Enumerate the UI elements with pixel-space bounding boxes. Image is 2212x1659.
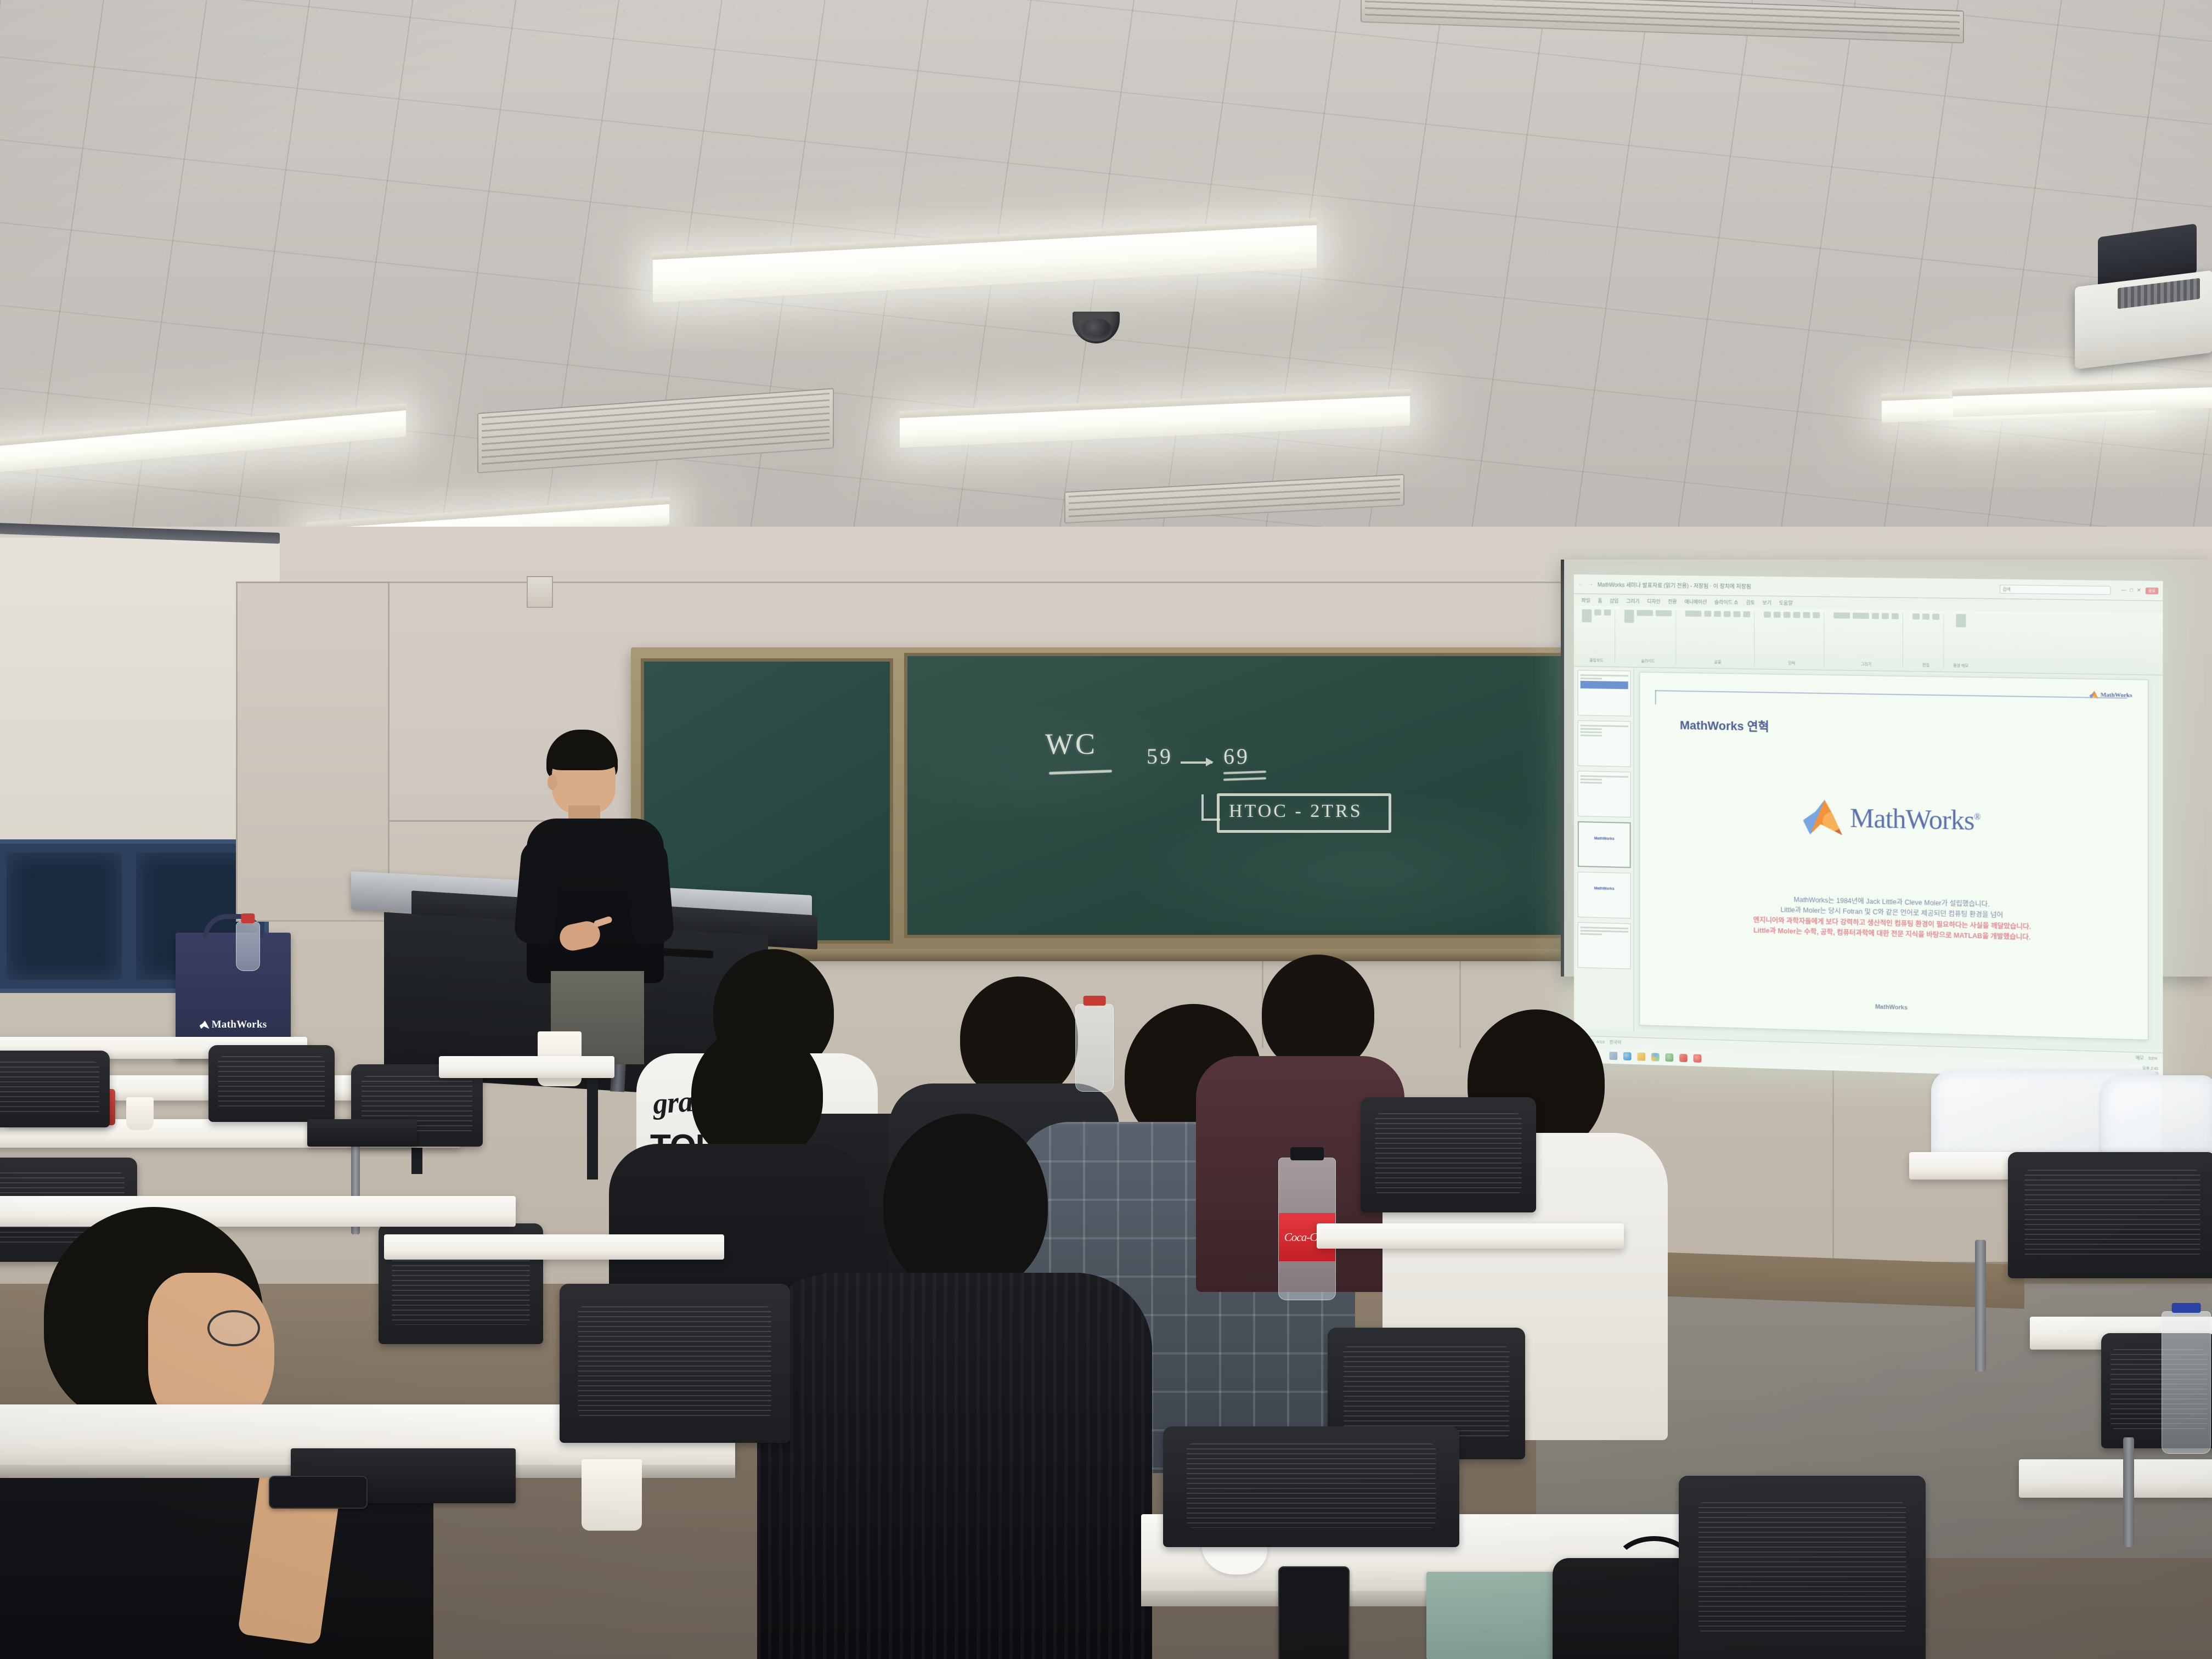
- wall-outlet-box: [527, 576, 553, 608]
- water-bottle-right: [2162, 1311, 2211, 1454]
- ribbon-icons[interactable]: [1764, 612, 1820, 618]
- cut-icon[interactable]: [1594, 610, 1601, 616]
- tote-brand-label: MathWorks: [176, 1019, 291, 1031]
- bullets-icon[interactable]: [1764, 612, 1771, 618]
- dictate-icon[interactable]: [1956, 614, 1966, 627]
- font-family-select[interactable]: [1685, 611, 1702, 617]
- desk-right-3: [2019, 1459, 2212, 1498]
- slide-title: MathWorks 연혁: [1680, 715, 1769, 735]
- shape-outline-icon[interactable]: [1882, 613, 1889, 619]
- nav-forward-icon[interactable]: →: [1588, 581, 1593, 587]
- ribbon-group-slides[interactable]: 슬라이드: [1621, 610, 1676, 664]
- align-right-icon[interactable]: [1803, 612, 1810, 618]
- maximize-icon[interactable]: □: [2130, 588, 2133, 594]
- paper-cup-front: [582, 1459, 642, 1531]
- chair-leg: [2123, 1437, 2134, 1547]
- thumb-line: [1581, 778, 1602, 781]
- desk-mid-left: [384, 1234, 724, 1260]
- thumb-mathworks-logo: MathWorks: [1581, 874, 1628, 891]
- projected-powerpoint[interactable]: ← → MathWorks 세미나 발표자료 (읽기 전용) - 저장됨 · 이…: [1574, 574, 2163, 1081]
- thumb-mathworks-logo: MathWorks: [1581, 825, 1628, 842]
- slide-main-logo: MathWorks®: [1803, 799, 1980, 838]
- tab-view[interactable]: 보기: [1763, 599, 1771, 606]
- ppt-document-title: MathWorks 세미나 발표자료 (읽기 전용) - 저장됨 · 이 장치에…: [1598, 580, 1751, 590]
- slide-decoration-corner: [1655, 690, 1656, 704]
- window-pane-left: [7, 853, 122, 980]
- ribbon-group-label: 글꼴: [1714, 658, 1722, 665]
- underline-icon[interactable]: [1734, 611, 1741, 617]
- tab-slideshow[interactable]: 슬라이드 쇼: [1714, 598, 1738, 605]
- slide-corner-logo: MathWorks: [2089, 691, 2132, 699]
- list-item[interactable]: [1578, 771, 1631, 817]
- tab-insert[interactable]: 삽입: [1610, 597, 1618, 604]
- lecture-hall-photo: WC 59 69 HTOC - 2TRS ← → MathWorks 세미나 발…: [0, 0, 2212, 1659]
- replace-icon[interactable]: [1922, 613, 1929, 619]
- layout-icon[interactable]: [1637, 610, 1652, 616]
- ribbon-group-paragraph[interactable]: 단락: [1760, 612, 1824, 667]
- smartphone-on-desk[interactable]: [1278, 1566, 1350, 1659]
- tab-transitions[interactable]: 전환: [1668, 597, 1677, 605]
- ribbon-group-drawing[interactable]: 그리기: [1830, 612, 1903, 668]
- find-icon[interactable]: [1912, 613, 1920, 619]
- thumb-line: [1581, 735, 1602, 737]
- podium-leg-right: [587, 1075, 598, 1180]
- powerpoint-icon[interactable]: [1679, 1053, 1688, 1062]
- arrange-icon[interactable]: [1853, 613, 1869, 619]
- ribbon-group-font[interactable]: 글꼴: [1681, 611, 1754, 665]
- thumb-line: [1581, 930, 1628, 933]
- thumb-line: [1581, 927, 1628, 929]
- ribbon-group-label: 클립보드: [1589, 656, 1603, 663]
- ceiling-projector: [2075, 230, 2212, 362]
- chair-leg: [1975, 1240, 1986, 1372]
- desk-podium-side: [439, 1056, 614, 1078]
- board-arrow: [1181, 761, 1212, 764]
- bottle-cap: [2172, 1303, 2201, 1313]
- ribbon-group-label: 그리기: [1861, 660, 1871, 667]
- presenter-hair-front: [548, 740, 618, 770]
- laptop-closed-left: [307, 1119, 417, 1147]
- shapes-gallery-icon[interactable]: [1833, 612, 1850, 618]
- notes-button[interactable]: 메모: [2136, 1055, 2144, 1062]
- ppt-search-box[interactable]: 검색: [2000, 584, 2111, 594]
- presenter-right-arm: [624, 838, 675, 945]
- ribbon-group-label: 편집: [1922, 661, 1929, 668]
- mathworks-membrane-icon: [1803, 799, 1842, 835]
- tab-help[interactable]: 도움말: [1779, 599, 1793, 606]
- shape-effects-icon[interactable]: [1892, 613, 1899, 619]
- mathworks-membrane-icon: [2089, 691, 2098, 698]
- ribbon-group-label: 음성 메모: [1953, 661, 1968, 668]
- chair-mid-3[interactable]: [560, 1284, 790, 1443]
- presenter-ear: [548, 775, 557, 790]
- thumb-line: [1581, 728, 1602, 730]
- zoom-level[interactable]: 53%: [2148, 1056, 2157, 1061]
- thumb-line: [1581, 933, 1602, 935]
- chair-mid-1[interactable]: [1361, 1097, 1536, 1212]
- board-note-htoc: HTOC - 2TRS: [1229, 801, 1363, 822]
- thumb-line: [1581, 775, 1628, 778]
- list-item[interactable]: [1578, 720, 1631, 767]
- tab-draw[interactable]: 그리기: [1626, 597, 1639, 604]
- italic-icon[interactable]: [1724, 611, 1731, 617]
- font-color-icon[interactable]: [1743, 611, 1750, 617]
- list-item[interactable]: MathWorks: [1578, 872, 1631, 918]
- ribbon-icons[interactable]: [1833, 612, 1899, 619]
- select-icon[interactable]: [1932, 614, 1939, 620]
- chair-back-left-1[interactable]: [0, 1051, 110, 1127]
- copy-icon[interactable]: [1604, 610, 1611, 616]
- board-note-59: 59: [1147, 743, 1173, 769]
- ribbon-group-label: 슬라이드: [1641, 657, 1655, 664]
- app-red-icon[interactable]: [1694, 1054, 1702, 1062]
- thumb-line: [1581, 678, 1602, 680]
- new-slide-icon[interactable]: [1624, 610, 1634, 623]
- slide-corner-logo-text: MathWorks: [2101, 691, 2132, 698]
- share-button[interactable]: 공유: [2146, 587, 2158, 594]
- list-item-selected[interactable]: MathWorks: [1578, 821, 1631, 868]
- ppt-ribbon[interactable]: 클립보드 슬라이드 글꼴: [1574, 606, 2163, 675]
- board-note-69: 69: [1223, 743, 1250, 769]
- thumb-line: [1581, 725, 1628, 727]
- statusbar-right[interactable]: 메모 53%: [2136, 1055, 2158, 1062]
- student-head: [883, 1114, 1048, 1295]
- slide-decoration-line: [1655, 690, 2128, 699]
- slide-footer: MathWorks: [1640, 997, 2148, 1018]
- paste-icon[interactable]: [1582, 609, 1592, 622]
- tab-file[interactable]: 파일: [1582, 596, 1590, 603]
- line-spacing-icon[interactable]: [1813, 612, 1820, 618]
- chair-back-left-2[interactable]: [208, 1045, 335, 1122]
- chair-right-1[interactable]: [2008, 1152, 2212, 1278]
- thumb-line: [1581, 731, 1602, 733]
- chair-front-center[interactable]: [1163, 1426, 1459, 1547]
- thumb-line: [1581, 782, 1602, 784]
- ribbon-icons[interactable]: [1624, 610, 1672, 623]
- mathworks-membrane-icon: [200, 1020, 210, 1029]
- bottle-cap: [241, 913, 255, 923]
- minimize-icon[interactable]: —: [2121, 587, 2126, 593]
- wall-seam-2: [274, 582, 1591, 583]
- white-plastic-bag-2: [2101, 1075, 2212, 1158]
- ribbon-icons[interactable]: [1912, 613, 1939, 620]
- tab-design[interactable]: 디자인: [1647, 597, 1660, 605]
- desk-mid-right: [1317, 1223, 1624, 1249]
- slide-logo-wordmark: MathWorks®: [1850, 802, 1980, 837]
- board-note-wc: WC: [1045, 727, 1097, 761]
- bottle-cap: [1084, 996, 1106, 1006]
- numbering-icon[interactable]: [1774, 612, 1781, 618]
- smartphone-front-left: [269, 1476, 368, 1509]
- water-bottle-center: [1075, 1004, 1114, 1092]
- list-item[interactable]: [1578, 922, 1631, 969]
- ribbon-group-clipboard[interactable]: 클립보드: [1578, 609, 1615, 663]
- ribbon-group-label: 단락: [1788, 659, 1796, 666]
- ribbon-icons[interactable]: [1685, 611, 1750, 617]
- tab-review[interactable]: 검토: [1746, 599, 1754, 606]
- eyeglasses: [207, 1310, 260, 1346]
- nav-back-icon[interactable]: ←: [1578, 581, 1584, 587]
- water-bottle: [236, 922, 260, 971]
- font-size-select[interactable]: [1704, 611, 1711, 617]
- align-left-icon[interactable]: [1784, 612, 1791, 618]
- ppt-window-controls[interactable]: — □ ✕: [2121, 587, 2141, 594]
- ribbon-icons[interactable]: [1582, 609, 1611, 622]
- tab-home[interactable]: 홈: [1598, 597, 1602, 604]
- ribbon-group-voice[interactable]: 음성 메모: [1949, 614, 1972, 669]
- reset-icon[interactable]: [1656, 610, 1672, 616]
- slide-body-text: MathWorks는 1984년에 Jack Little과 Cleve Mol…: [1670, 891, 2117, 945]
- tab-animations[interactable]: 애니메이션: [1685, 597, 1707, 605]
- student-head: [1262, 955, 1374, 1073]
- paper-cup-left: [126, 1097, 154, 1130]
- chair-front-right[interactable]: [1679, 1476, 1926, 1659]
- board-hook-line: [1201, 794, 1204, 821]
- ribbon-icons[interactable]: [1953, 614, 1968, 627]
- list-item[interactable]: [1578, 670, 1631, 716]
- bottle-cap: [1290, 1147, 1324, 1160]
- bold-icon[interactable]: [1714, 611, 1721, 617]
- close-icon[interactable]: ✕: [2137, 588, 2141, 594]
- classroom-door[interactable]: [236, 582, 390, 922]
- thumb-line: [1581, 674, 1628, 676]
- align-center-icon[interactable]: [1793, 612, 1801, 618]
- registered-mark: ®: [1974, 813, 1980, 822]
- shape-fill-icon[interactable]: [1872, 613, 1879, 619]
- ppt-current-slide[interactable]: MathWorks MathWorks 연혁 MathWorks® MathWo…: [1639, 672, 2148, 1040]
- student-body-knit: [757, 1273, 1152, 1659]
- ribbon-group-editing[interactable]: 편집: [1909, 613, 1944, 668]
- thumb-band: [1581, 681, 1628, 689]
- ppt-slide-thumbnail-panel[interactable]: MathWorks MathWorks: [1575, 668, 1634, 1031]
- student-black-knit-front: [757, 1114, 1152, 1659]
